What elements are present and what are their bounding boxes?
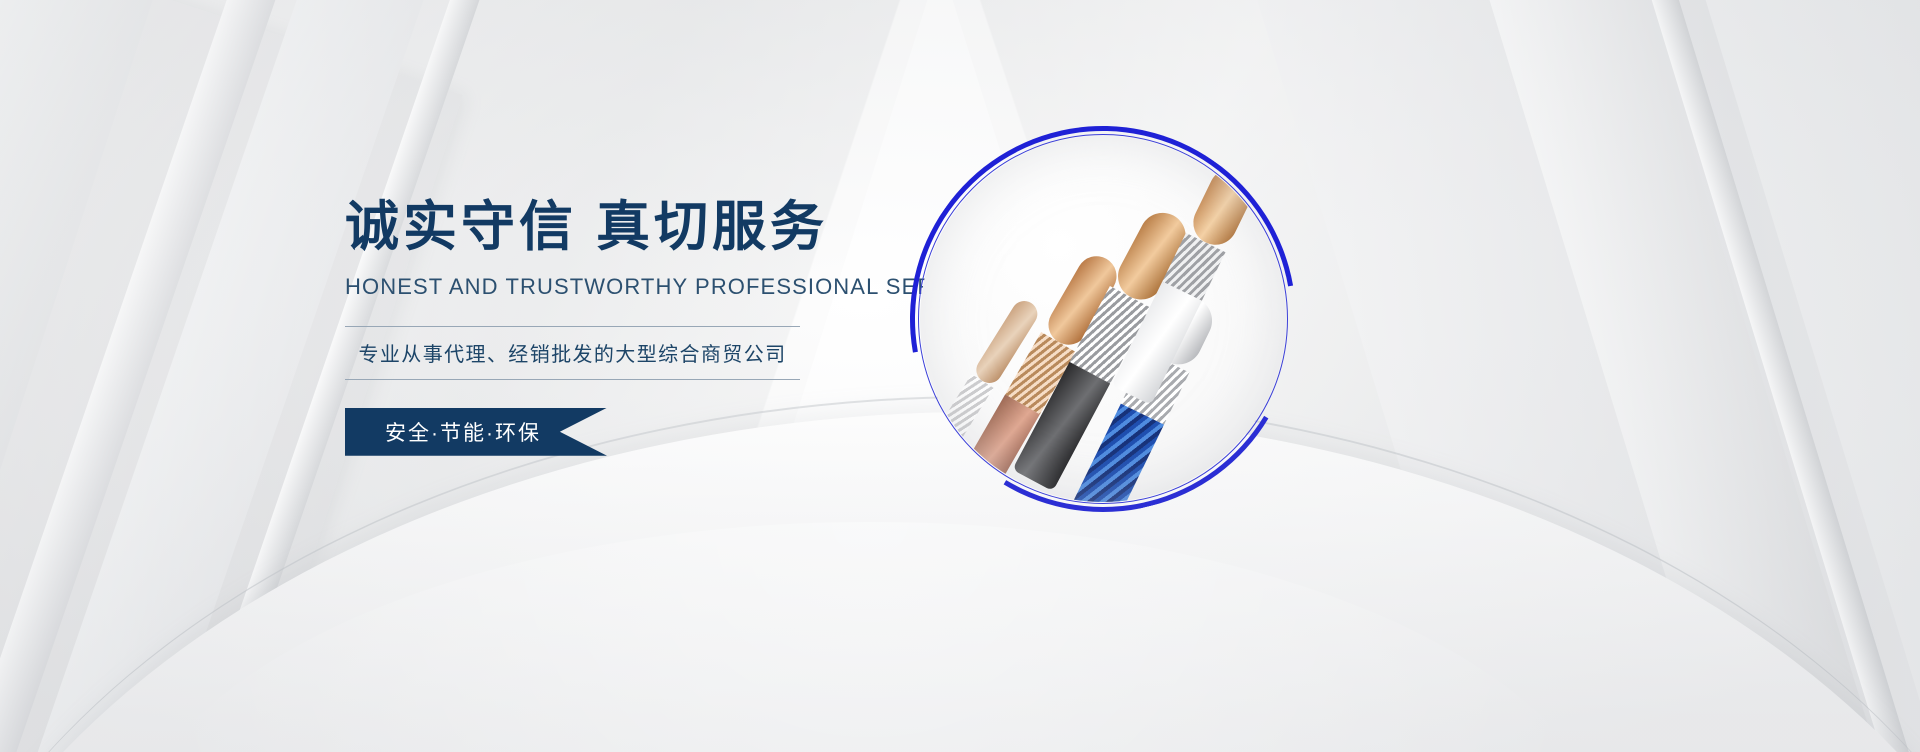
hero-banner: 诚实守信 真切服务 HONEST AND TRUSTWORTHY PROFESS…	[0, 0, 1920, 752]
product-medallion	[912, 128, 1294, 510]
medallion-arc-secondary	[869, 85, 1337, 553]
status-badge: 安全·节能·环保	[345, 408, 607, 456]
status-badge-label: 安全·节能·环保	[385, 417, 541, 447]
page-title: 诚实守信 真切服务	[345, 196, 865, 260]
description-frame: 专业从事代理、经销批发的大型综合商贸公司	[345, 326, 800, 380]
subtitle-english: HONEST AND TRUSTWORTHY PROFESSIONAL SERV…	[345, 274, 865, 300]
description-text: 专业从事代理、经销批发的大型综合商贸公司	[345, 338, 800, 367]
hero-text-block: 诚实守信 真切服务 HONEST AND TRUSTWORTHY PROFESS…	[345, 196, 865, 456]
